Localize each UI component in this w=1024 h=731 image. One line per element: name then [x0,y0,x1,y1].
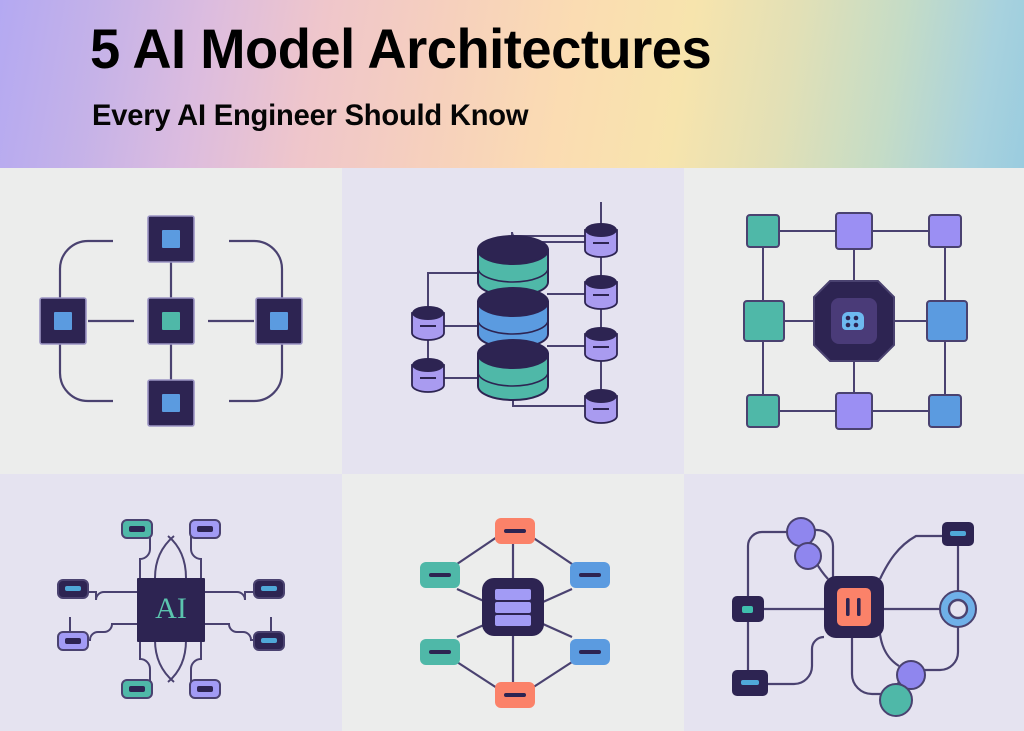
ai-port-top-right [190,520,220,538]
chip-grid-diagram [684,168,1024,474]
ai-core-label: AI [155,592,187,625]
database-satellite-right-3 [585,327,617,361]
database-satellite-left-1 [412,306,444,340]
panel-agent-flow[interactable] [684,474,1024,731]
ai-port-right-upper [254,580,284,598]
ai-port-right-lower [254,632,284,650]
ai-port-left-upper [58,580,88,598]
infographic-page: 5 AI Model Architectures Every AI Engine… [0,0,1024,731]
database-stack-diagram [342,168,684,474]
chip-node-top-right [929,215,961,247]
agent-node-top-circle-upper [787,518,815,546]
hub-core-layer-2 [495,602,531,613]
hub-node-top [495,518,535,544]
mesh-node-right [256,298,302,344]
hub-core-layer-3 [495,615,531,626]
agent-node-left-pill-upper [732,596,764,622]
hub-core-layer-1 [495,589,531,600]
agent-core-bar-right [857,598,861,616]
page-subtitle: Every AI Engineer Should Know [92,99,528,132]
hub-node-right-lower [570,639,610,665]
database-satellite-right-2 [585,275,617,309]
hub-node-bottom [495,682,535,708]
agent-core-bar-left [846,598,850,616]
ai-port-bottom-left [122,680,152,698]
page-title: 5 AI Model Architectures [90,20,711,79]
database-satellite-left-2 [412,358,444,392]
database-cylinder-3 [478,340,548,400]
layered-hub-diagram [342,474,684,731]
hub-node-left-upper [420,562,460,588]
header-banner: 5 AI Model Architectures Every AI Engine… [0,0,1024,168]
panel-chip-grid[interactable] [684,168,1024,474]
database-satellite-right-4 [585,389,617,423]
hub-node-right-upper [570,562,610,588]
chip-node-top-left [747,215,779,247]
ai-chip-diagram: AI [0,474,342,731]
ai-port-bottom-right [190,680,220,698]
cluster-icon [842,312,864,330]
chip-node-middle-left [744,301,784,341]
database-satellite-right-1 [585,223,617,257]
chip-node-bottom-center [836,393,872,429]
hub-node-left-lower [420,639,460,665]
chip-node-top-center [836,213,872,249]
panel-mesh-network[interactable] [0,168,342,474]
ai-port-top-left [122,520,152,538]
chip-node-bottom-left [747,395,779,427]
panel-database-stack[interactable] [342,168,684,474]
architecture-grid: AI [0,168,1024,731]
ai-port-left-lower [58,632,88,650]
mesh-node-left [40,298,86,344]
mesh-node-bottom [148,380,194,426]
panel-ai-chip[interactable]: AI [0,474,342,731]
mesh-node-top [148,216,194,262]
chip-core [814,281,894,361]
agent-node-top-circle-lower [795,543,821,569]
chip-node-middle-right [927,301,967,341]
agent-node-bottom-teal [880,684,912,716]
chip-node-bottom-right [929,395,961,427]
agent-flow-diagram [684,474,1024,731]
agent-core-inner [837,588,871,626]
mesh-network-diagram [0,168,342,474]
panel-layered-hub[interactable] [342,474,684,731]
agent-node-left-pill-lower [732,670,768,696]
agent-node-top-right-pill [942,522,974,546]
agent-node-right-ring [940,591,976,627]
mesh-node-center [148,298,194,344]
